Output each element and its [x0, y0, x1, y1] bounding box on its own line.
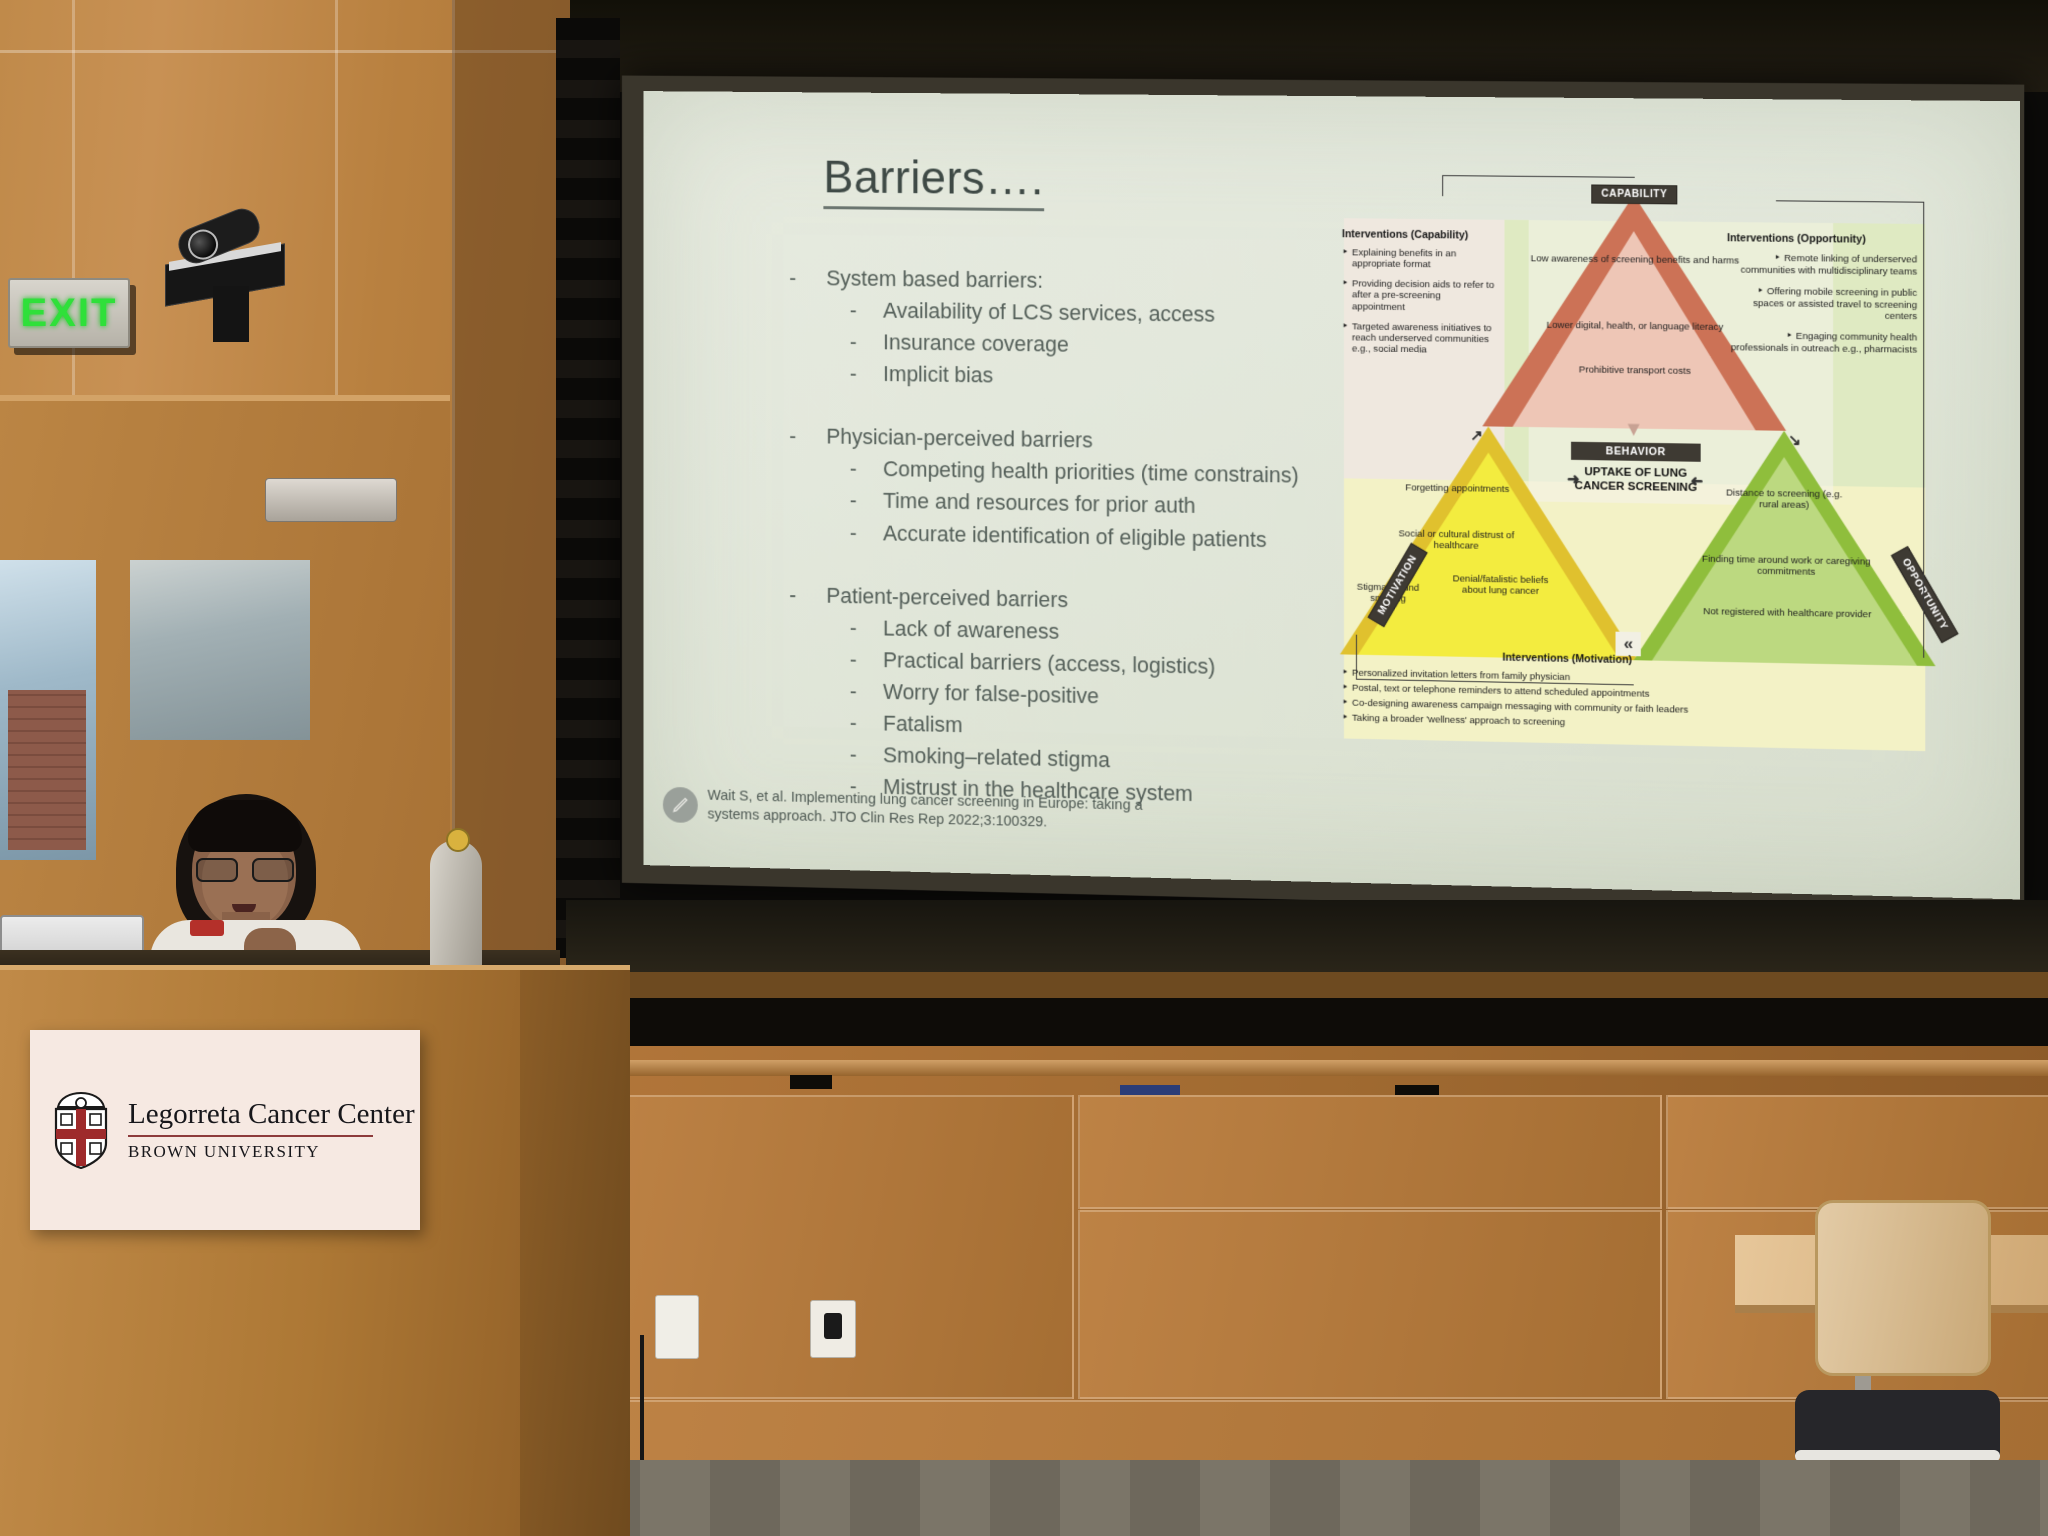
bullet-dash: - [850, 711, 883, 736]
bullet-dash: - [789, 424, 826, 448]
brown-university-crest-icon [48, 1091, 114, 1169]
wall-panel [1078, 1095, 1662, 1209]
wall-panel [1666, 1095, 2048, 1209]
intervention-item: Explaining benefits in an appropriate fo… [1342, 247, 1494, 271]
podium-sign-line2: BROWN UNIVERSITY [128, 1142, 415, 1162]
mic-knob [446, 828, 470, 852]
wall-recess [570, 998, 2048, 1046]
presentation-slide: Barriers…. - System based barriers: - Av… [644, 91, 2020, 899]
exit-sign: EXIT [8, 278, 130, 348]
intervention-item: Offering mobile screening in public spac… [1727, 284, 1917, 322]
sub-bullet: - Competing health priorities (time cons… [850, 457, 1342, 489]
bullet-dash: - [850, 457, 883, 481]
slide-title-text: Barriers…. [823, 151, 1044, 212]
com-b-figure: Low awareness of screening benefits and … [1332, 156, 1981, 781]
wall-shelf [570, 1060, 2048, 1076]
lecture-hall-photo: EXIT Barriers…. - System based barriers: [0, 0, 2048, 1536]
exterior-brick [8, 690, 86, 850]
sub-bullet: - Availability of LCS services, access [850, 298, 1342, 328]
sub-bullet-label: Fatalism [883, 712, 963, 738]
podium-sign-line1: Legorreta Cancer Center [128, 1098, 415, 1131]
screen-bottom-bar [566, 900, 2048, 972]
ceiling-camera-icon [165, 218, 285, 338]
floor [570, 1460, 2048, 1536]
sub-bullet-label: Worry for false-positive [883, 680, 1099, 708]
interventions-capability-title: Interventions (Capability) [1342, 228, 1494, 242]
sub-bullet: - Accurate identification of eligible pa… [850, 521, 1342, 553]
sub-bullet-label: Time and resources for prior auth [883, 489, 1196, 518]
bullet-label: Patient-perceived barriers [826, 584, 1068, 612]
connector-capability [1442, 175, 1635, 198]
sub-bullet-label: Accurate identification of eligible pati… [883, 521, 1267, 552]
sub-bullet: - Lack of awareness [850, 616, 1342, 650]
interventions-motivation-box: Interventions (Motivation) Personalized … [1502, 652, 1929, 741]
bullet-group-system: - System based barriers: [789, 266, 1342, 296]
bullet-group-physician: - Physician-perceived barriers [789, 424, 1342, 456]
bullet-group-patient: - Patient-perceived barriers [789, 583, 1342, 617]
sub-bullet-label: Insurance coverage [883, 331, 1069, 357]
slide-bullet-list: - System based barriers: - Availability … [789, 240, 1342, 809]
intervention-item: Remote linking of underserved communitie… [1727, 251, 1917, 277]
desk-object [790, 1075, 832, 1089]
pencil-icon [663, 787, 698, 823]
bullet-dash: - [850, 679, 883, 704]
behavior-text: UPTAKE OF LUNG CANCER SCREENING [1571, 465, 1701, 496]
sub-bullet: - Worry for false-positive [850, 679, 1342, 713]
wall-panel [1078, 1210, 1662, 1399]
screen-curtain [556, 18, 620, 958]
behavior-tag: BEHAVIOR [1571, 442, 1701, 462]
bullet-dash: - [850, 616, 883, 640]
presenter-hair-front [188, 800, 302, 852]
bullet-dash: - [850, 647, 883, 672]
sub-bullet-label: Lack of awareness [883, 616, 1059, 643]
presenter-glasses [196, 858, 294, 878]
intervention-item: Engaging community health professionals … [1727, 329, 1917, 356]
exit-sign-label: EXIT [21, 291, 118, 336]
sub-bullet-label: Availability of LCS services, access [883, 299, 1215, 327]
opportunity-item: Finding time around work or caregiving c… [1680, 554, 1892, 579]
wall-rail [570, 972, 2048, 998]
corner-arrow-icon: ↗ [1470, 426, 1483, 444]
sub-bullet: - Time and resources for prior auth [850, 489, 1342, 521]
sub-bullet-label: Implicit bias [883, 362, 993, 387]
interventions-capability-box: Interventions (Capability) Explaining be… [1342, 228, 1494, 365]
behavior-box: BEHAVIOR UPTAKE OF LUNG CANCER SCREENING [1571, 442, 1701, 496]
corner-arrow-icon: ↘ [1788, 431, 1801, 449]
bullet-dash: - [850, 521, 883, 545]
chair-back [1815, 1200, 1991, 1376]
connector-opportunity-top [1776, 200, 1924, 233]
left-arrow-icon: ➜ [1691, 472, 1704, 490]
sub-bullet-label: Smoking–related stigma [883, 743, 1110, 772]
sub-bullet-label: Competing health priorities (time constr… [883, 458, 1299, 489]
sub-bullet-label: Practical barriers (access, logistics) [883, 648, 1215, 679]
bullet-dash: - [850, 362, 883, 386]
sub-bullet: - Implicit bias [850, 362, 1342, 393]
interventions-opportunity-box: Interventions (Opportunity) Remote linki… [1727, 232, 1917, 364]
sub-bullet: - Fatalism [850, 711, 1342, 746]
podium-sign-rule [128, 1135, 373, 1137]
slide-title: Barriers…. [823, 150, 1044, 206]
intervention-item: Providing decision aids to refer to afte… [1342, 278, 1494, 313]
intervention-item: Targeted awareness initiatives to reach … [1342, 321, 1494, 356]
down-arrow-icon: ▼ [1624, 418, 1644, 441]
sub-bullet: - Practical barriers (access, logistics) [850, 647, 1342, 681]
motivation-item: Forgetting appointments [1402, 483, 1513, 496]
bullet-label: Physician-perceived barriers [826, 425, 1092, 453]
door-window [130, 560, 310, 740]
double-left-arrow-icon: « [1616, 632, 1642, 657]
bullet-label: System based barriers: [826, 266, 1043, 292]
bullet-dash: - [850, 489, 883, 513]
door-closer [265, 478, 397, 522]
interventions-opportunity-title: Interventions (Opportunity) [1727, 232, 1917, 246]
wall-seam [72, 0, 75, 420]
right-arrow-icon: ➜ [1567, 470, 1580, 488]
bullet-dash: - [850, 330, 883, 354]
sub-bullet: - Smoking–related stigma [850, 743, 1342, 778]
motivation-item: Denial/fatalistic beliefs about lung can… [1442, 574, 1559, 598]
bullet-dash: - [850, 298, 883, 322]
opportunity-item: Distance to screening (e.g. rural areas) [1717, 488, 1852, 512]
bullet-dash: - [789, 583, 826, 607]
sub-bullet: - Insurance coverage [850, 330, 1342, 360]
motivation-item: Social or cultural distrust of healthcar… [1376, 529, 1537, 553]
podium-sign: Legorreta Cancer Center BROWN UNIVERSITY [30, 1030, 420, 1230]
bullet-dash: - [789, 266, 826, 290]
bullet-dash: - [850, 743, 883, 768]
podium-marker [190, 920, 224, 936]
